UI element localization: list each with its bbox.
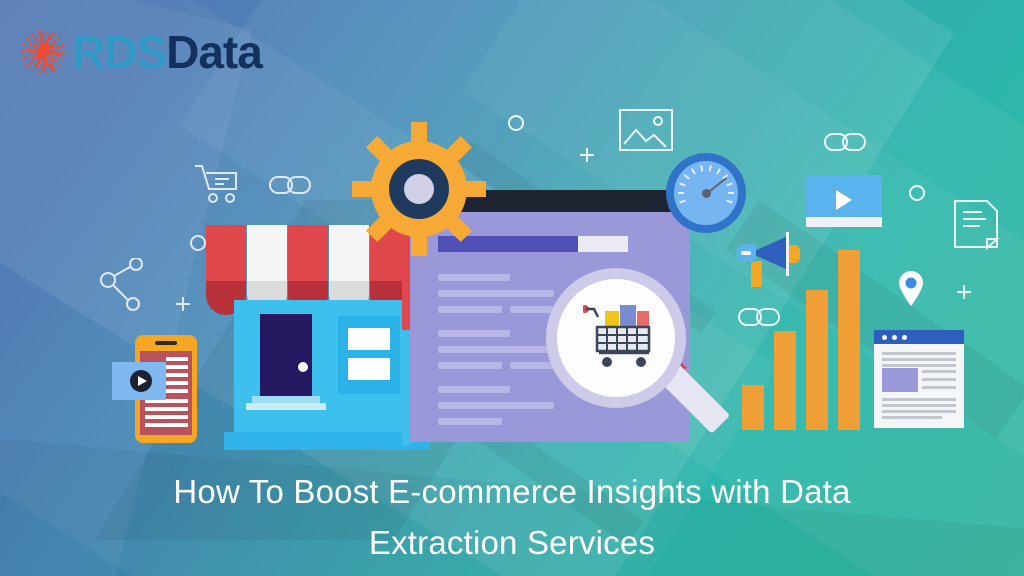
page-title-line-1: How To Boost E-commerce Insights with Da…	[0, 466, 1024, 517]
banner-canvas: RDSData	[0, 0, 1024, 576]
door-knob	[298, 362, 308, 372]
browser-dot	[892, 335, 897, 340]
magnifier-ring	[546, 268, 686, 408]
shop-door	[260, 314, 312, 396]
location-pin	[898, 270, 924, 306]
play-icon-triangle	[138, 376, 147, 386]
phone-speaker	[155, 341, 177, 345]
bar-chart	[742, 250, 862, 430]
circle-icon-2	[189, 234, 207, 252]
gauge-pin	[702, 189, 711, 198]
magnifier-with-cart	[546, 268, 722, 444]
browser-dot	[882, 335, 887, 340]
shop-storefront	[234, 300, 420, 440]
document-outline-icon	[952, 198, 1000, 250]
shopping-cart-icon	[583, 305, 655, 369]
phone-video-thumbnail	[112, 362, 166, 400]
plus-icon-3	[955, 283, 973, 301]
circle-icon-1	[507, 114, 525, 132]
chart-bar	[742, 385, 764, 430]
link-outline-icon	[268, 173, 312, 197]
play-icon	[836, 190, 852, 210]
gear-core	[404, 174, 434, 204]
video-progress-bar	[806, 217, 882, 227]
circle-icon-3	[908, 184, 926, 202]
shop-step-upper	[252, 396, 320, 403]
chart-bar	[774, 331, 796, 430]
video-player	[806, 175, 882, 227]
browser-window	[874, 330, 964, 428]
shop-window	[338, 316, 400, 394]
chart-bar	[838, 250, 860, 430]
gauge-face	[674, 161, 738, 225]
image-outline-icon	[618, 108, 674, 152]
speed-gauge	[666, 153, 746, 233]
brand-name-data: Data	[166, 26, 262, 78]
shop-step-lower	[246, 403, 326, 410]
browser-titlebar	[874, 330, 964, 344]
shop-base	[224, 432, 430, 450]
plus-icon-1	[578, 146, 596, 164]
shop-window-pane-2	[348, 358, 390, 380]
page-title: How To Boost E-commerce Insights with Da…	[0, 466, 1024, 568]
browser-dot	[902, 335, 907, 340]
page-title-line-2: Extraction Services	[0, 517, 1024, 568]
cart-outline-icon	[193, 163, 245, 207]
link-outline-icon-3	[823, 130, 867, 154]
brand-name-rds: RDS	[72, 26, 166, 78]
share-outline-icon	[98, 258, 148, 318]
chart-bar	[806, 290, 828, 430]
plus-icon-2	[174, 295, 192, 313]
magnifier-lens	[557, 279, 675, 397]
brand-logo[interactable]: RDSData	[18, 24, 262, 80]
dot-cluster-icon	[18, 27, 68, 77]
settings-gear	[352, 122, 486, 256]
browser-image-block	[882, 368, 918, 392]
brand-name: RDSData	[72, 29, 262, 75]
shop-window-pane-1	[348, 328, 390, 350]
